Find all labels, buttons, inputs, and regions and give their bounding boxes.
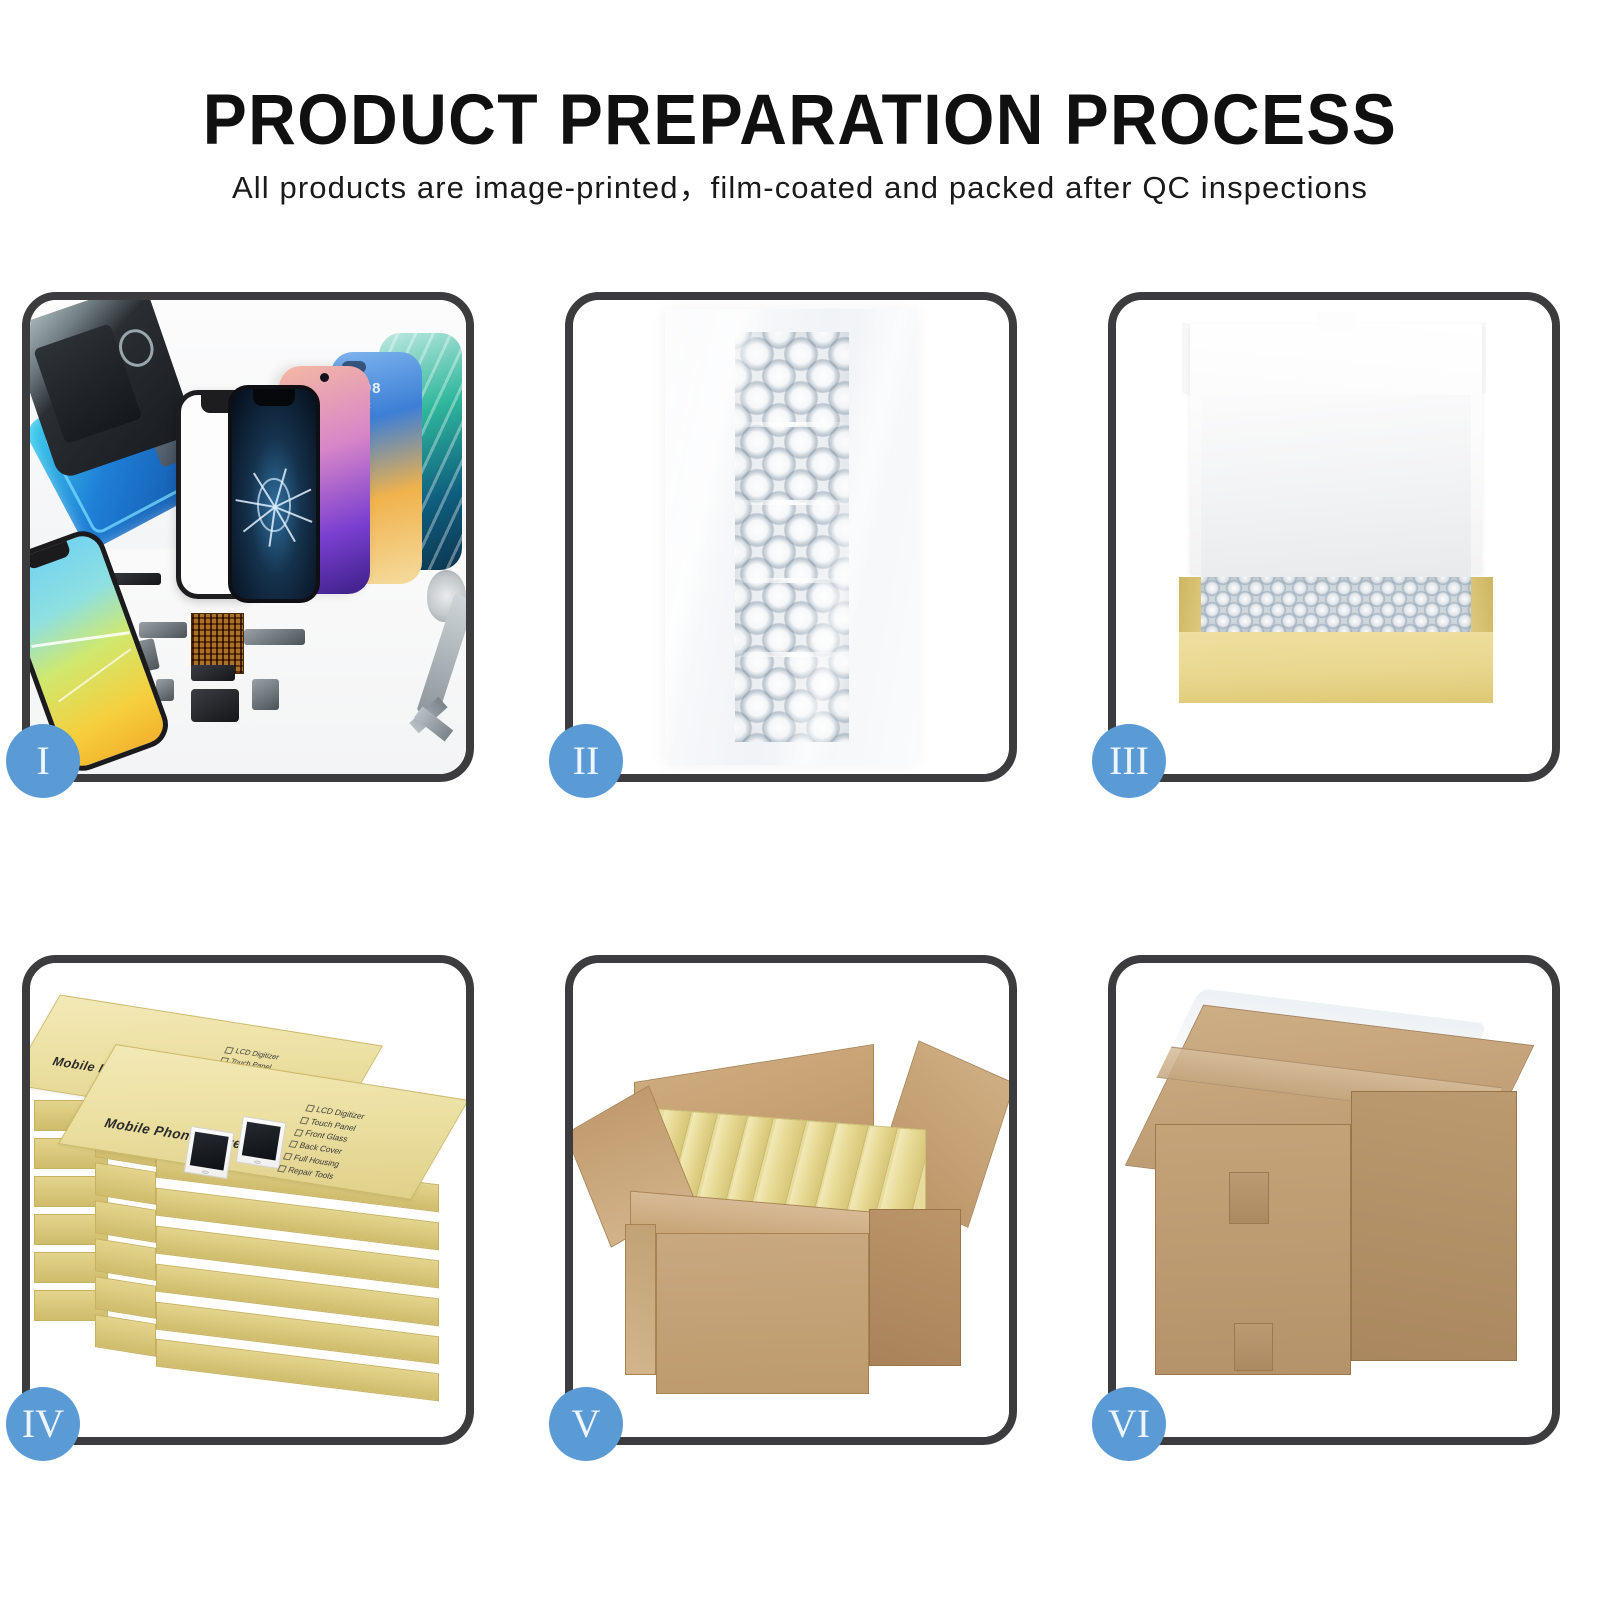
panel-2-image <box>573 300 1009 774</box>
sealed-carton-side <box>1351 1091 1517 1361</box>
mailer-front-panel <box>1179 632 1493 703</box>
carton-side-right <box>869 1209 961 1365</box>
mailer-inner-wall <box>1201 395 1471 585</box>
mailer-lid-tab <box>1317 312 1356 331</box>
step-badge-5: V <box>549 1387 623 1461</box>
panel-3-image <box>1116 300 1552 774</box>
carton-tab-lower <box>1234 1323 1273 1370</box>
panel-step-6: VI <box>1108 955 1560 1445</box>
carton-front-panel <box>656 1233 870 1394</box>
retail-box-thumbnail <box>184 1126 234 1180</box>
retail-box-stack-icon: Mobile Phone Spare Parts LCD Digitizer T… <box>30 963 466 1437</box>
panel-5-image <box>573 963 1009 1437</box>
plastic-sheen <box>665 309 918 764</box>
phone-cracked-screen-icon <box>228 385 320 603</box>
panel-step-1: 08:08 Mon, Oct <box>22 292 474 782</box>
panel-1-image: 08:08 Mon, Oct <box>30 300 466 774</box>
panel-step-5: V <box>565 955 1017 1445</box>
carton-tab-upper <box>1229 1172 1268 1224</box>
retail-box-thumbnail <box>236 1116 286 1170</box>
panel-4-image: Mobile Phone Spare Parts LCD Digitizer T… <box>30 963 466 1437</box>
vibration-motor-icon <box>191 665 235 681</box>
speaker-part-icon <box>252 679 278 710</box>
carton-side-left <box>625 1224 656 1376</box>
panel-step-3: III <box>1108 292 1560 782</box>
panel-6-image <box>1116 963 1552 1437</box>
panel-step-2: II <box>565 292 1017 782</box>
process-grid: 08:08 Mon, Oct <box>0 0 1600 1600</box>
step-badge-1: I <box>6 724 80 798</box>
panel-step-4: Mobile Phone Spare Parts LCD Digitizer T… <box>22 955 474 1445</box>
bubble-wrapped-item-icon <box>1201 577 1471 632</box>
connector-part-icon <box>139 622 187 638</box>
box-edge <box>95 1314 156 1357</box>
step-badge-2: II <box>549 724 623 798</box>
step-badge-4: IV <box>6 1387 80 1461</box>
step-badge-3: III <box>1092 724 1166 798</box>
camera-module-icon <box>191 689 239 722</box>
step-badge-6: VI <box>1092 1387 1166 1461</box>
bubble-wrap-pouch-icon <box>665 309 918 764</box>
volume-button-flex-icon <box>244 629 305 644</box>
